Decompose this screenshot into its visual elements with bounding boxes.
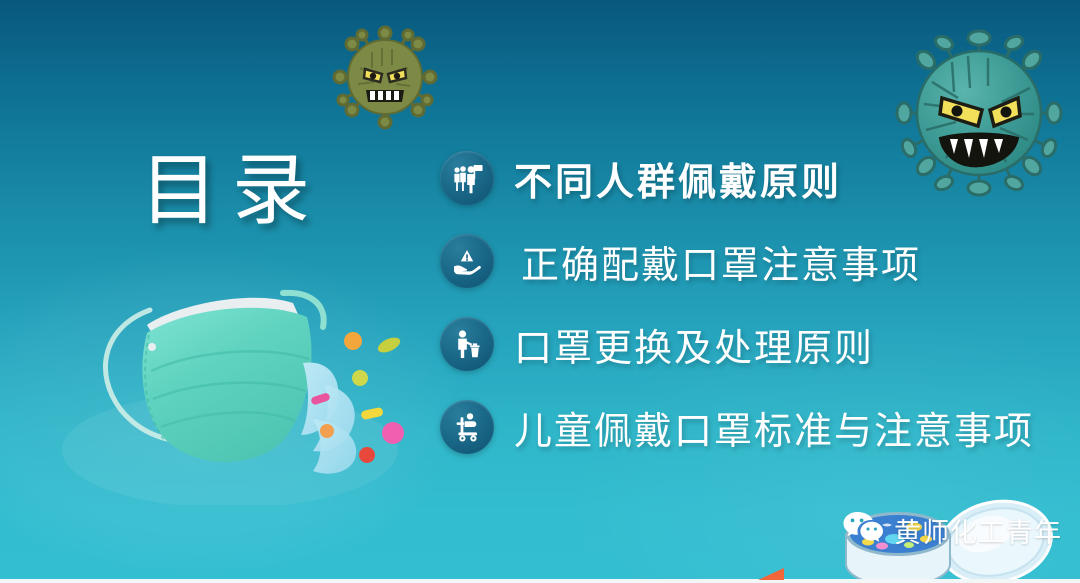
people-group-icon xyxy=(440,151,494,205)
contents-item-1-label: 不同人群佩戴原则 xyxy=(514,151,842,206)
contents-item-1[interactable]: 不同人群佩戴原则 xyxy=(440,143,1060,213)
contents-item-4[interactable]: 儿童佩戴口罩标准与注意事项 xyxy=(440,392,1060,462)
slide-canvas: 目录 xyxy=(0,0,1080,583)
page-title: 目录 xyxy=(140,128,324,240)
wechat-watermark: 黄师化工青年 xyxy=(842,510,1062,551)
contents-item-2-label: 正确配戴口罩注意事项 xyxy=(521,234,921,289)
contents-item-3[interactable]: 口罩更换及处理原则 xyxy=(440,309,1060,379)
child-scooter-icon xyxy=(440,400,494,454)
person-trash-icon xyxy=(440,317,494,371)
contents-item-4-label: 儿童佩戴口罩标准与注意事项 xyxy=(514,400,1034,455)
angry-virus-olive-icon xyxy=(330,22,440,137)
hand-warning-icon xyxy=(440,234,494,288)
playback-progress-bar[interactable] xyxy=(0,579,1080,583)
contents-list: 不同人群佩戴原则 正确配戴口罩注意事项 xyxy=(440,143,1060,475)
playback-marker[interactable] xyxy=(758,568,784,580)
wechat-account-name: 黄师化工青年 xyxy=(894,511,1062,550)
contents-item-2[interactable]: 正确配戴口罩注意事项 xyxy=(440,226,1060,296)
wechat-icon xyxy=(842,510,884,551)
contents-item-3-label: 口罩更换及处理原则 xyxy=(514,317,874,372)
surgical-mask-illustration xyxy=(55,255,415,505)
